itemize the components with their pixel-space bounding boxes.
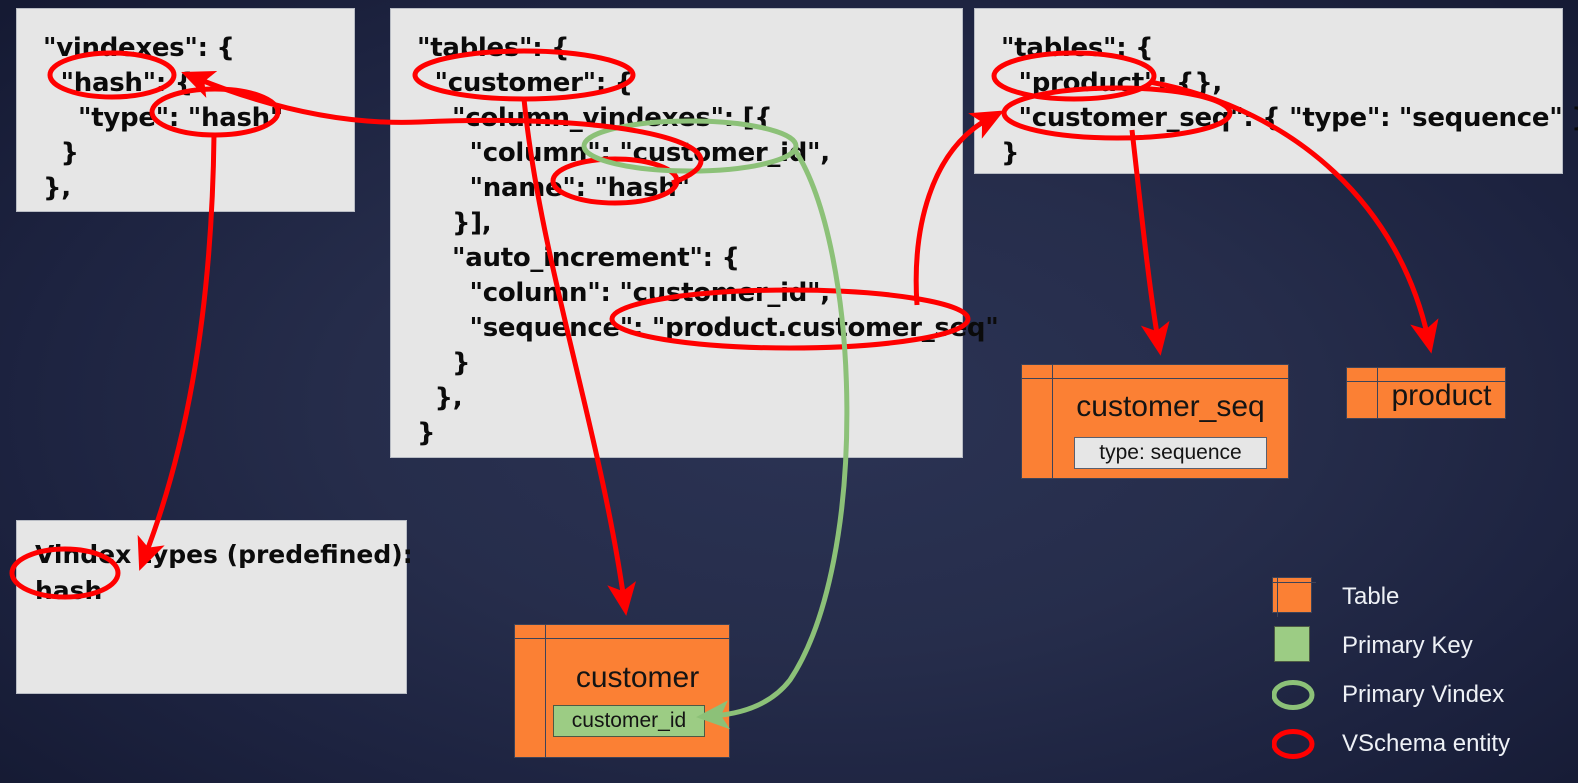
legend-label-primary-key: Primary Key — [1342, 632, 1473, 660]
vindex-types-panel: Vindex types (predefined): hash — [16, 520, 407, 694]
legend-item-primary-key: Primary Key — [1272, 621, 1572, 670]
legend-item-table: Table — [1272, 572, 1572, 621]
vindexes-json-code: "vindexes": { "hash": { "type": "hash" }… — [17, 9, 354, 206]
product-keyspace-json-code: "tables": { "product": {}, "customer_seq… — [975, 9, 1562, 171]
legend: Table Primary Key Primary Vindex VSchema… — [1272, 572, 1572, 768]
table-left-column — [1347, 368, 1378, 418]
vindex-types-item-hash: hash — [17, 573, 406, 609]
vschema-entity-ellipse-icon — [1272, 724, 1316, 764]
customer-keyspace-json-panel: "tables": { "customer": { "column_vindex… — [390, 8, 963, 458]
legend-item-primary-vindex: Primary Vindex — [1272, 670, 1572, 719]
table-header-bar — [1022, 365, 1288, 379]
table-header-bar — [515, 625, 729, 639]
primary-key-customer-id: customer_id — [553, 705, 705, 737]
legend-label-primary-vindex: Primary Vindex — [1342, 681, 1504, 709]
table-left-column — [515, 625, 546, 757]
legend-item-vschema-entity: VSchema entity — [1272, 719, 1572, 768]
primary-key-swatch-icon — [1272, 626, 1316, 666]
product-keyspace-json-panel: "tables": { "product": {}, "customer_seq… — [974, 8, 1563, 174]
table-box-customer[interactable]: customer customer_id — [514, 624, 730, 758]
table-name-label: customer_seq — [1053, 390, 1288, 424]
table-box-customer-seq[interactable]: customer_seq type: sequence — [1021, 364, 1289, 479]
table-left-column — [1022, 365, 1053, 478]
table-name-label: customer — [546, 661, 729, 695]
vindexes-json-panel: "vindexes": { "hash": { "type": "hash" }… — [16, 8, 355, 212]
vindex-types-title: Vindex types (predefined): — [17, 521, 406, 573]
table-attribute-type-sequence: type: sequence — [1074, 437, 1267, 469]
table-swatch-icon — [1272, 577, 1316, 617]
primary-vindex-ellipse-icon — [1272, 675, 1316, 715]
vschema-diagram-canvas: "vindexes": { "hash": { "type": "hash" }… — [0, 0, 1578, 783]
customer-keyspace-json-code: "tables": { "customer": { "column_vindex… — [391, 9, 962, 451]
table-box-product[interactable]: product — [1346, 367, 1506, 419]
table-name-label: product — [1378, 379, 1505, 413]
legend-label-table: Table — [1342, 583, 1399, 611]
legend-label-vschema-entity: VSchema entity — [1342, 730, 1510, 758]
